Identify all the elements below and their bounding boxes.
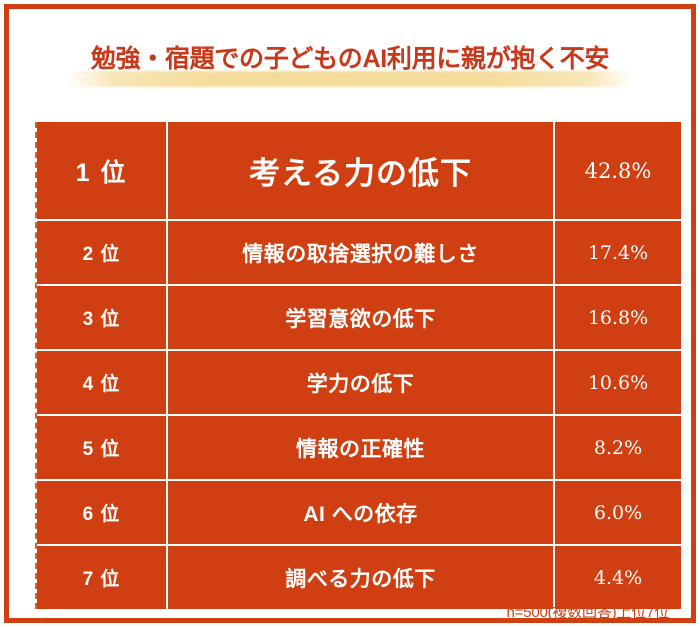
table-row: 7 位 調べる力の低下 4.4% xyxy=(37,546,681,609)
title-banner: 勉強・宿題での子どものAI利用に親が抱く不安 xyxy=(9,31,691,93)
percentage-cell: 17.4% xyxy=(555,221,681,284)
rank-cell: 5 位 xyxy=(37,416,166,479)
item-cell: 考える力の低下 xyxy=(168,122,553,219)
percentage-cell: 42.8% xyxy=(555,122,681,219)
table-row: 6 位 AI への依存 6.0% xyxy=(37,481,681,544)
rank-cell: 6 位 xyxy=(37,481,166,544)
item-cell: 情報の取捨選択の難しさ xyxy=(168,221,553,284)
rank-cell: 2 位 xyxy=(37,221,166,284)
table-row: 3 位 学習意欲の低下 16.8% xyxy=(37,286,681,349)
rank-cell: 3 位 xyxy=(37,286,166,349)
item-cell: 調べる力の低下 xyxy=(168,546,553,609)
percentage-cell: 8.2% xyxy=(555,416,681,479)
page-title: 勉強・宿題での子どものAI利用に親が抱く不安 xyxy=(9,31,691,87)
table-row: 1 位 考える力の低下 42.8% xyxy=(37,122,681,219)
percentage-cell: 16.8% xyxy=(555,286,681,349)
item-cell: 学力の低下 xyxy=(168,351,553,414)
footnote: n=500(複数回答)上位7位 xyxy=(507,601,669,622)
page-frame: 勉強・宿題での子どものAI利用に親が抱く不安 1 位 考える力の低下 42.8%… xyxy=(4,4,696,623)
table-row: 4 位 学力の低下 10.6% xyxy=(37,351,681,414)
ranking-table: 1 位 考える力の低下 42.8% 2 位 情報の取捨選択の難しさ 17.4% … xyxy=(35,122,681,609)
table-row: 5 位 情報の正確性 8.2% xyxy=(37,416,681,479)
rank-cell: 7 位 xyxy=(37,546,166,609)
item-cell: 学習意欲の低下 xyxy=(168,286,553,349)
page-root: 勉強・宿題での子どものAI利用に親が抱く不安 1 位 考える力の低下 42.8%… xyxy=(0,0,700,627)
rank-cell: 4 位 xyxy=(37,351,166,414)
percentage-cell: 4.4% xyxy=(555,546,681,609)
rank-cell: 1 位 xyxy=(37,122,166,219)
table-row: 2 位 情報の取捨選択の難しさ 17.4% xyxy=(37,221,681,284)
percentage-cell: 10.6% xyxy=(555,351,681,414)
item-cell: AI への依存 xyxy=(168,481,553,544)
item-cell: 情報の正確性 xyxy=(168,416,553,479)
percentage-cell: 6.0% xyxy=(555,481,681,544)
